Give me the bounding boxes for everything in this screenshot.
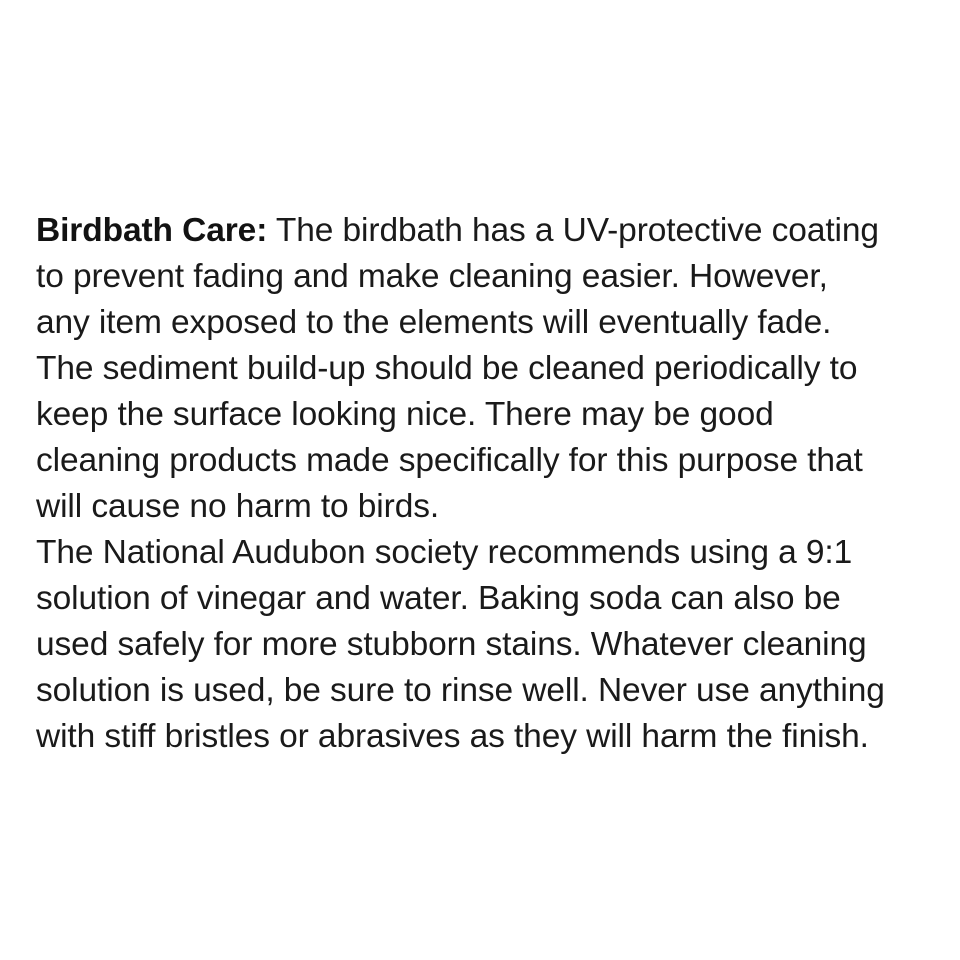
text-line-10-body: used safely for more stubborn stains. Wh…	[36, 626, 867, 663]
text-line-3: any item exposed to the elements will ev…	[36, 300, 942, 346]
text-line-4-body: The sediment build-up should be cleaned …	[36, 350, 857, 387]
text-line-11: solution is used, be sure to rinse well.…	[36, 668, 942, 714]
text-line-11-body: solution is used, be sure to rinse well.…	[36, 672, 885, 709]
text-line-10: used safely for more stubborn stains. Wh…	[36, 622, 942, 668]
heading-inline-label: Birdbath Care:	[36, 212, 267, 249]
text-line-4: The sediment build-up should be cleaned …	[36, 346, 942, 392]
text-line-2: to prevent fading and make cleaning easi…	[36, 254, 942, 300]
page-canvas: Birdbath Care: The birdbath has a UV-pro…	[0, 0, 960, 960]
text-line-12: with stiff bristles or abrasives as they…	[36, 714, 942, 760]
text-line-12-body: with stiff bristles or abrasives as they…	[36, 718, 869, 755]
text-line-6: cleaning products made specifically for …	[36, 438, 942, 484]
text-line-8: The National Audubon society recommends …	[36, 530, 942, 576]
text-line-6-body: cleaning products made specifically for …	[36, 442, 863, 479]
birdbath-care-text-block: Birdbath Care: The birdbath has a UV-pro…	[36, 208, 942, 760]
text-line-1: Birdbath Care: The birdbath has a UV-pro…	[36, 208, 942, 254]
text-line-9-body: solution of vinegar and water. Baking so…	[36, 580, 841, 617]
text-line-5: keep the surface looking nice. There may…	[36, 392, 942, 438]
text-line-1-body: The birdbath has a UV-protective coating	[267, 212, 879, 249]
text-line-2-body: to prevent fading and make cleaning easi…	[36, 258, 828, 295]
text-line-5-body: keep the surface looking nice. There may…	[36, 396, 774, 433]
text-line-3-body: any item exposed to the elements will ev…	[36, 304, 831, 341]
text-line-7: will cause no harm to birds.	[36, 484, 942, 530]
text-line-9: solution of vinegar and water. Baking so…	[36, 576, 942, 622]
text-line-8-body: The National Audubon society recommends …	[36, 534, 852, 571]
text-line-7-body: will cause no harm to birds.	[36, 488, 439, 525]
